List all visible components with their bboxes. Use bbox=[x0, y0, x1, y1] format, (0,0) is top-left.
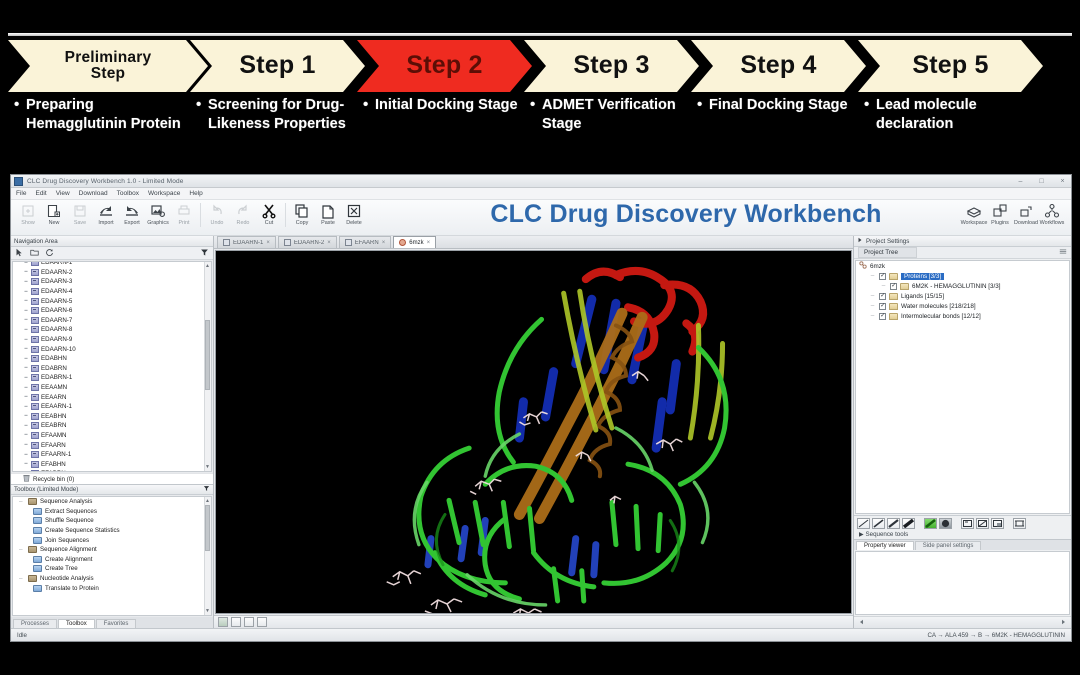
toolbox-group[interactable]: ─Sequence Analysis bbox=[13, 497, 211, 507]
status-left: Idle bbox=[17, 632, 27, 639]
tree-expander[interactable]: ━ bbox=[23, 308, 29, 314]
toolbar-button-label: Delete bbox=[346, 220, 362, 226]
project-tree-expander[interactable]: ─ bbox=[880, 283, 887, 289]
sequence-tab-icon bbox=[223, 239, 230, 246]
tree-expander[interactable]: ━ bbox=[23, 298, 29, 304]
text-view-button[interactable] bbox=[257, 617, 267, 627]
chevron-step-4[interactable]: Step 4 bbox=[691, 40, 866, 92]
project-tree-row-label: Proteins [3/3] bbox=[901, 273, 944, 280]
toolbox-group-label: Sequence Analysis bbox=[40, 498, 92, 505]
graphics-icon bbox=[150, 202, 167, 219]
toolbar-button-label: Paste bbox=[321, 220, 335, 226]
project-folder-icon bbox=[889, 293, 898, 300]
plugins-icon bbox=[992, 202, 1009, 219]
toolbar-button-group: ShowNewSaveImportExportGraphicsPrintUndo… bbox=[15, 202, 367, 227]
navigation-area-header: Navigation Area bbox=[11, 236, 213, 247]
sequence-tools-panel: ▶ Sequence tools bbox=[854, 515, 1071, 539]
sequence-file-icon bbox=[31, 317, 39, 324]
project-folder-icon bbox=[900, 283, 909, 290]
nav-tree-item[interactable]: ━EDAARN-3 bbox=[23, 277, 211, 287]
chevron-step-bullets: Screening for Drug- Likeness Properties bbox=[196, 96, 358, 172]
toolbar-button-new[interactable]: New bbox=[41, 202, 67, 226]
chevron-step-label: Step 3 bbox=[573, 53, 649, 79]
molecule-3d-viewport[interactable] bbox=[215, 250, 852, 614]
nav-tree-item[interactable]: ━EFAAMN bbox=[23, 431, 211, 441]
toolbox-item[interactable]: Create Alignment bbox=[13, 555, 211, 565]
project-tree-bar: Project Tree bbox=[854, 247, 1071, 259]
bottom-tab-processes[interactable]: Processes bbox=[13, 619, 57, 628]
nav-tree-item-label: EDABRN bbox=[41, 365, 67, 372]
export-icon bbox=[124, 202, 141, 219]
nav-tree-item[interactable]: ━EEAAMN bbox=[23, 383, 211, 393]
nav-tree-item[interactable]: ━EDABRN bbox=[23, 364, 211, 374]
nav-tree-item-label: EEABRN bbox=[41, 422, 66, 429]
sequence-file-icon bbox=[31, 422, 39, 429]
toolbox-item[interactable]: Create Sequence Statistics bbox=[13, 526, 211, 536]
molecule-view-button[interactable] bbox=[218, 617, 228, 627]
toolbar-button-export[interactable]: Export bbox=[119, 202, 145, 226]
sequence-file-icon bbox=[31, 365, 39, 372]
prop-scroll-left-icon[interactable] bbox=[858, 619, 865, 627]
recycle-bin-row[interactable]: Recycle bin (0) bbox=[11, 473, 213, 484]
menu-item-toolbox[interactable]: Toolbox bbox=[117, 190, 139, 197]
sequence-file-icon bbox=[31, 278, 39, 285]
toolbar-button-workspace[interactable]: Workspace bbox=[961, 202, 987, 226]
toolbox-title: Toolbox (Limited Mode) bbox=[14, 486, 78, 493]
undo-icon bbox=[209, 202, 226, 219]
maximize-button[interactable]: □ bbox=[1037, 177, 1046, 186]
nav-tree-item[interactable]: ━EDAARN-6 bbox=[23, 306, 211, 316]
nav-tree-item-label: EDABRN-1 bbox=[41, 374, 72, 381]
process-flow-banner: PreliminaryStepStep 1Step 2Step 3Step 4S… bbox=[0, 0, 1080, 175]
toolbox-scroll-up-arrow[interactable]: ▲ bbox=[205, 498, 210, 504]
nav-tree-item[interactable]: ━EFABRN bbox=[23, 469, 211, 472]
tree-expander[interactable]: ━ bbox=[23, 317, 29, 323]
toolbar-button-label: Cut bbox=[265, 220, 273, 226]
sequence-tools-expand-icon[interactable]: ▶ bbox=[859, 531, 864, 538]
toolbox-group-label: Sequence Alignment bbox=[40, 546, 97, 553]
project-tree-row[interactable]: ─Proteins [3/3] bbox=[856, 271, 1069, 281]
toolbox-item[interactable]: Join Sequences bbox=[13, 535, 211, 545]
project-tree-row[interactable]: ─6M2K - HEMAGGLUTININ [3/3] bbox=[856, 281, 1069, 291]
project-tree-row[interactable]: ─Water molecules [218/218] bbox=[856, 301, 1069, 311]
sequence-tools-label[interactable]: ▶ Sequence tools bbox=[857, 529, 1068, 539]
toolbar-button-workflows[interactable]: Workflows bbox=[1039, 202, 1065, 226]
nav-tree-item[interactable]: ━EDABRN-1 bbox=[23, 373, 211, 383]
nav-tree-item-label: EDAARN-2 bbox=[41, 269, 72, 276]
table-view-button[interactable] bbox=[231, 617, 241, 627]
property-tab-bar: Property viewerSide panel settings bbox=[854, 539, 1071, 550]
window-titlebar: CLC Drug Discovery Workbench 1.0 - Limit… bbox=[11, 175, 1071, 188]
toolbar-button-import[interactable]: Import bbox=[93, 202, 119, 226]
sequence-tool-grid-icon[interactable] bbox=[991, 518, 1004, 529]
sequence-file-icon bbox=[31, 298, 39, 305]
sequence-file-icon bbox=[31, 326, 39, 333]
tree-expander[interactable]: ━ bbox=[23, 289, 29, 295]
chevron-step-bullets: Final Docking Stage bbox=[697, 96, 859, 172]
sequence-tool-backbone-thin-icon[interactable] bbox=[872, 518, 885, 529]
tree-expander[interactable]: ━ bbox=[23, 452, 29, 458]
view-tab-6mzk[interactable]: 6mzk× bbox=[393, 236, 436, 248]
sequence-file-icon bbox=[31, 336, 39, 343]
tree-expander[interactable]: ━ bbox=[23, 346, 29, 352]
menu-item-edit[interactable]: Edit bbox=[35, 190, 46, 197]
toolbox-expander[interactable]: ─ bbox=[19, 576, 25, 582]
toolbar-button-label: Copy bbox=[296, 220, 309, 226]
tree-expander[interactable]: ━ bbox=[23, 279, 29, 285]
toolbox-item[interactable]: Shuffle Sequence bbox=[13, 516, 211, 526]
chevron-step-bullets: ADMET Verification Stage bbox=[530, 96, 692, 172]
sequence-tab-icon bbox=[345, 239, 352, 246]
project-settings-header: Project Settings bbox=[854, 236, 1071, 247]
view-tab-label: EDAARN-2 bbox=[294, 240, 324, 246]
toolbox-folder-icon bbox=[28, 498, 37, 505]
view-tab-edaarn-1[interactable]: EDAARN-1× bbox=[217, 236, 276, 248]
sequence-file-icon bbox=[31, 451, 39, 458]
property-tab-property-viewer[interactable]: Property viewer bbox=[856, 541, 914, 550]
chevron-step-2[interactable]: Step 2 bbox=[357, 40, 532, 92]
toolbox-filter-icon[interactable] bbox=[203, 485, 210, 494]
sequence-tool-fit-icon[interactable] bbox=[1013, 518, 1026, 529]
protein-ribbon-render bbox=[216, 251, 851, 613]
nav-tree-item[interactable]: ━EDAARN-4 bbox=[23, 287, 211, 297]
chevron-step-0[interactable]: PreliminaryStep bbox=[8, 40, 208, 92]
tree-expander[interactable]: ━ bbox=[23, 413, 29, 419]
project-root-row[interactable]: 6mzk bbox=[856, 261, 1069, 271]
toolbox-item-icon bbox=[33, 537, 42, 544]
tree-expander[interactable]: ━ bbox=[23, 375, 29, 381]
menu-item-file[interactable]: File bbox=[16, 190, 26, 197]
nav-tree-item[interactable]: ━EDAARN-8 bbox=[23, 325, 211, 335]
tree-expander[interactable]: ━ bbox=[23, 471, 29, 472]
toolbox-item[interactable]: Extract Sequences bbox=[13, 507, 211, 517]
nav-tree-item-label: EFABRN bbox=[41, 470, 66, 472]
nav-tree-item[interactable]: ━EEABHN bbox=[23, 412, 211, 422]
nav-tree-item[interactable]: ━EDAARN-9 bbox=[23, 335, 211, 345]
toolbar-button-label: Workspace bbox=[961, 220, 988, 226]
new-icon bbox=[46, 202, 63, 219]
nav-tree-item[interactable]: ━EFAARN-1 bbox=[23, 450, 211, 460]
toolbox-scrollbar[interactable]: ▲ ▼ bbox=[204, 497, 211, 615]
nav-tree-item[interactable]: ━EFABHN bbox=[23, 459, 211, 469]
split-view-button[interactable] bbox=[244, 617, 254, 627]
viewport-toolbar bbox=[214, 615, 853, 628]
view-tab-close-icon[interactable]: × bbox=[266, 240, 270, 246]
toolbox-item-label: Translate to Protein bbox=[45, 585, 99, 592]
toolbox-tree[interactable]: ─Sequence AnalysisExtract SequencesShuff… bbox=[12, 496, 212, 616]
chevron-row: PreliminaryStepStep 1Step 2Step 3Step 4S… bbox=[0, 40, 1080, 92]
sequence-tool-buttons bbox=[857, 518, 1068, 529]
toolbar-button-delete[interactable]: Delete bbox=[341, 202, 367, 226]
toolbox-item-label: Create Sequence Statistics bbox=[45, 527, 120, 534]
sequence-file-icon bbox=[31, 470, 39, 472]
sequence-file-icon bbox=[31, 355, 39, 362]
view-tab-edaarn-2[interactable]: EDAARN-2× bbox=[278, 236, 337, 248]
project-tree-checkbox[interactable] bbox=[879, 293, 886, 300]
molecule-root-icon bbox=[859, 261, 867, 271]
navigation-scrollbar[interactable]: ▲ ▼ bbox=[204, 262, 211, 471]
project-tree-row-label: Intermolecular bonds [12/12] bbox=[901, 313, 981, 320]
nav-tree-item[interactable]: ━EEAARN bbox=[23, 392, 211, 402]
copy-icon bbox=[294, 202, 311, 219]
scroll-thumb[interactable] bbox=[205, 320, 210, 390]
toolbar-button-label: Show bbox=[21, 220, 35, 226]
nav-tree-item[interactable]: ━EDAARN-1 bbox=[23, 261, 211, 268]
menu-item-help[interactable]: Help bbox=[189, 190, 202, 197]
nav-tree-item-label: EEAAMN bbox=[41, 384, 67, 391]
application-window: CLC Drug Discovery Workbench 1.0 - Limit… bbox=[10, 174, 1072, 642]
toolbar-button-redo: Redo bbox=[230, 202, 256, 226]
screenshot-root: PreliminaryStepStep 1Step 2Step 3Step 4S… bbox=[0, 0, 1080, 675]
scroll-down-arrow[interactable]: ▼ bbox=[205, 464, 210, 470]
project-tree-checkbox[interactable] bbox=[879, 303, 886, 310]
toolbar-button-show: Show bbox=[15, 202, 41, 226]
toolbox-group[interactable]: ─Sequence Alignment bbox=[13, 545, 211, 555]
sequence-tools-text: Sequence tools bbox=[866, 531, 909, 538]
toolbar-button-label: Import bbox=[98, 220, 113, 226]
molecule-tab-icon bbox=[399, 239, 406, 246]
sequence-file-icon bbox=[31, 442, 39, 449]
chevron-step-1[interactable]: Step 1 bbox=[190, 40, 365, 92]
status-bar: Idle CA → ALA 459 → B → 6M2K - HEMAGGLUT… bbox=[11, 628, 1071, 641]
tree-expander[interactable]: ━ bbox=[23, 269, 29, 275]
toolbar-button-label: Undo bbox=[211, 220, 224, 226]
project-tree-expander[interactable]: ─ bbox=[869, 303, 876, 309]
close-button[interactable]: × bbox=[1058, 177, 1067, 186]
refresh-icon[interactable] bbox=[45, 248, 54, 259]
tree-expander[interactable]: ━ bbox=[23, 423, 29, 429]
toolbox-item[interactable]: Translate to Protein bbox=[13, 583, 211, 593]
download-icon bbox=[1018, 202, 1035, 219]
chevron-step-label: PreliminaryStep bbox=[65, 50, 152, 82]
toolbox-item-label: Create Alignment bbox=[45, 556, 92, 563]
tree-expander[interactable]: ━ bbox=[23, 327, 29, 333]
bullet-item: Final Docking Stage bbox=[697, 96, 859, 115]
view-tab-close-icon[interactable]: × bbox=[427, 240, 431, 246]
nav-tree-item[interactable]: ━EEABRN bbox=[23, 421, 211, 431]
save-icon bbox=[72, 202, 89, 219]
toolbox-item-label: Shuffle Sequence bbox=[45, 517, 94, 524]
project-tree-expander[interactable]: ─ bbox=[869, 293, 876, 299]
project-settings-title: Project Settings bbox=[866, 238, 1068, 245]
project-tree-checkbox[interactable] bbox=[879, 313, 886, 320]
menu-item-view[interactable]: View bbox=[56, 190, 70, 197]
chevron-step-bullets: Preparing Hemagglutinin Protein bbox=[14, 96, 182, 172]
toolbox-scroll-down-arrow[interactable]: ▼ bbox=[205, 608, 210, 614]
nav-tree-item[interactable]: ━EEAARN-1 bbox=[23, 402, 211, 412]
project-tree-expander[interactable]: ─ bbox=[869, 313, 876, 319]
project-tree[interactable]: 6mzk─Proteins [3/3]─6M2K - HEMAGGLUTININ… bbox=[855, 260, 1070, 514]
chevron-step-label: Step 2 bbox=[406, 53, 482, 79]
toolbar-button-print: Print bbox=[171, 202, 197, 226]
tree-expander[interactable]: ━ bbox=[23, 432, 29, 438]
project-folder-icon bbox=[889, 273, 898, 280]
tree-expander[interactable]: ━ bbox=[23, 365, 29, 371]
nav-tree-item-label: EEAARN bbox=[41, 394, 66, 401]
tree-expander[interactable]: ━ bbox=[23, 385, 29, 391]
bullet-item: Preparing Hemagglutinin Protein bbox=[14, 96, 182, 135]
toolbox-item-icon bbox=[33, 585, 42, 592]
tree-expander[interactable]: ━ bbox=[23, 356, 29, 362]
delete-icon bbox=[346, 202, 363, 219]
toolbox-item-icon bbox=[33, 565, 42, 572]
window-body: Navigation Area bbox=[11, 236, 1071, 628]
sequence-file-icon bbox=[31, 288, 39, 295]
sequence-tool-label-icon[interactable] bbox=[961, 518, 974, 529]
toolbox-expander[interactable]: ─ bbox=[19, 499, 25, 505]
tree-expander[interactable]: ━ bbox=[23, 394, 29, 400]
right-panel: Project Settings Project Tree 6mzk─Prote… bbox=[853, 236, 1071, 628]
chevron-step-3[interactable]: Step 3 bbox=[524, 40, 699, 92]
pointer-icon[interactable] bbox=[15, 248, 24, 259]
window-controls: – □ × bbox=[1016, 177, 1067, 186]
toolbar-button-label: Download bbox=[1014, 220, 1038, 226]
chevron-step-bullets: Initial Docking Stage bbox=[363, 96, 525, 172]
sequence-file-icon bbox=[31, 307, 39, 314]
workflows-icon bbox=[1044, 202, 1061, 219]
toolbox-header: Toolbox (Limited Mode) bbox=[11, 484, 213, 495]
project-tree-checkbox[interactable] bbox=[890, 283, 897, 290]
view-tab-label: EDAARN-1 bbox=[233, 240, 263, 246]
toolbar-button-label: Plugins bbox=[991, 220, 1009, 226]
nav-tree-item[interactable]: ━EDAARN-5 bbox=[23, 296, 211, 306]
toolbox-item[interactable]: Create Tree bbox=[13, 564, 211, 574]
toolbox-item-icon bbox=[33, 527, 42, 534]
nav-tree-item-label: EFABHN bbox=[41, 461, 66, 468]
chevron-step-5[interactable]: Step 5 bbox=[858, 40, 1043, 92]
nav-tree-item-label: EDABHN bbox=[41, 355, 67, 362]
project-tree-row[interactable]: ─Ligands [15/15] bbox=[856, 291, 1069, 301]
sequence-file-icon bbox=[31, 413, 39, 420]
nav-tree-item[interactable]: ━EDAARN-7 bbox=[23, 316, 211, 326]
nav-tree-item[interactable]: ━EDABHN bbox=[23, 354, 211, 364]
toolbox-expander[interactable]: ─ bbox=[19, 547, 25, 553]
project-tree-row-label: 6M2K - HEMAGGLUTININ [3/3] bbox=[912, 283, 1001, 290]
bullet-item: Lead molecule declaration bbox=[864, 96, 1039, 135]
sequence-file-icon bbox=[31, 261, 39, 266]
toolbox-item-label: Join Sequences bbox=[45, 537, 89, 544]
menu-bar: FileEditViewDownloadToolboxWorkspaceHelp bbox=[11, 188, 1071, 200]
sequence-tool-backbone-ribbon-icon[interactable] bbox=[887, 518, 900, 529]
property-tab-side-panel-settings[interactable]: Side panel settings bbox=[915, 541, 982, 550]
nav-tree-item-label: EDAARN-8 bbox=[41, 326, 72, 333]
project-folder-icon bbox=[889, 313, 898, 320]
main-toolbar: ShowNewSaveImportExportGraphicsPrintUndo… bbox=[11, 200, 1071, 236]
nav-tree-item[interactable]: ━EDAARN-10 bbox=[23, 344, 211, 354]
tree-expander[interactable]: ━ bbox=[23, 442, 29, 448]
toolbar-button-copy[interactable]: Copy bbox=[289, 202, 315, 226]
scissors-icon bbox=[261, 202, 278, 219]
sequence-tool-ruler-icon[interactable] bbox=[976, 518, 989, 529]
toolbar-button-cut[interactable]: Cut bbox=[256, 202, 282, 226]
toolbar-button-undo: Undo bbox=[204, 202, 230, 226]
nav-tree-item-label: EDAARN-1 bbox=[41, 261, 72, 266]
sequence-file-icon bbox=[31, 394, 39, 401]
project-tree-menu-icon[interactable] bbox=[1059, 249, 1067, 256]
window-title: CLC Drug Discovery Workbench 1.0 - Limit… bbox=[27, 178, 184, 185]
chevron-step-bullets: Lead molecule declaration bbox=[864, 96, 1039, 172]
nav-tree-item-label: EEAARN-1 bbox=[41, 403, 72, 410]
toolbar-button-label: Graphics bbox=[147, 220, 169, 226]
nav-tree-item[interactable]: ━EFAARN bbox=[23, 440, 211, 450]
sequence-tool-surface-dark-icon[interactable] bbox=[939, 518, 952, 529]
nav-tree-item-label: EDAARN-10 bbox=[41, 346, 76, 353]
toolbox-folder-icon bbox=[28, 546, 37, 553]
tree-expander[interactable]: ━ bbox=[23, 337, 29, 343]
scroll-up-arrow[interactable]: ▲ bbox=[205, 263, 210, 269]
expand-arrow-icon[interactable] bbox=[857, 237, 863, 245]
banner-top-rule bbox=[8, 33, 1072, 36]
property-viewer[interactable] bbox=[855, 551, 1070, 615]
sequence-tab-icon bbox=[284, 239, 291, 246]
toolbox-folder-icon bbox=[28, 575, 37, 582]
tree-expander[interactable]: ━ bbox=[23, 261, 29, 266]
toolbar-button-save: Save bbox=[67, 202, 93, 226]
nav-tree-item[interactable]: ━EDAARN-2 bbox=[23, 268, 211, 278]
view-tab-close-icon[interactable]: × bbox=[327, 240, 331, 246]
toolbox-scroll-thumb[interactable] bbox=[205, 505, 210, 551]
view-tab-efaarn[interactable]: EFAARN× bbox=[339, 236, 392, 248]
toolbar-separator bbox=[200, 203, 201, 227]
view-tab-label: EFAARN bbox=[355, 240, 379, 246]
menu-item-workspace[interactable]: Workspace bbox=[148, 190, 180, 197]
navigation-tree[interactable]: ━EDAARN-1━EDAARN-2━EDAARN-3━EDAARN-4━EDA… bbox=[12, 261, 212, 472]
property-viewer-footer bbox=[854, 616, 1071, 628]
toolbar-button-label: Redo bbox=[237, 220, 250, 226]
bottom-tab-toolbox[interactable]: Toolbox bbox=[58, 619, 95, 628]
toolbar-separator bbox=[285, 203, 286, 227]
bottom-tab-favorites[interactable]: Favorites bbox=[96, 619, 137, 628]
prop-scroll-right-icon[interactable] bbox=[1060, 619, 1067, 627]
project-tree-row-label: Water molecules [218/218] bbox=[901, 303, 976, 310]
nav-tree-item-label: EDAARN-7 bbox=[41, 317, 72, 324]
menu-item-download[interactable]: Download bbox=[79, 190, 108, 197]
tree-expander[interactable]: ━ bbox=[23, 461, 29, 467]
import-icon bbox=[98, 202, 115, 219]
toolbox-group[interactable]: ─Nucleotide Analysis bbox=[13, 574, 211, 584]
sequence-tool-surface-green-icon[interactable] bbox=[924, 518, 937, 529]
project-tree-label: Project Tree bbox=[858, 247, 917, 258]
workspace-icon bbox=[966, 202, 983, 219]
bullet-item: ADMET Verification Stage bbox=[530, 96, 692, 135]
tree-expander[interactable]: ━ bbox=[23, 404, 29, 410]
project-tree-row[interactable]: ─Intermolecular bonds [12/12] bbox=[856, 311, 1069, 321]
project-folder-icon bbox=[889, 303, 898, 310]
toolbox-item-label: Create Tree bbox=[45, 565, 78, 572]
toolbar-button-label: Save bbox=[74, 220, 86, 226]
view-tab-close-icon[interactable]: × bbox=[382, 240, 386, 246]
toolbar-button-paste[interactable]: Paste bbox=[315, 202, 341, 226]
filter-icon[interactable] bbox=[200, 248, 209, 259]
project-tree-row-label: Ligands [15/15] bbox=[901, 293, 944, 300]
nav-tree-item-label: EFAARN-1 bbox=[41, 451, 71, 458]
project-tree-expander[interactable]: ─ bbox=[869, 273, 876, 279]
toolbar-button-graphics[interactable]: Graphics bbox=[145, 202, 171, 226]
toolbar-button-label: Print bbox=[178, 220, 189, 226]
open-folder-icon[interactable] bbox=[30, 248, 39, 259]
toolbar-button-download[interactable]: Download bbox=[1013, 202, 1039, 226]
sequence-tool-backbone-solid-icon[interactable] bbox=[902, 518, 915, 529]
minimize-button[interactable]: – bbox=[1016, 177, 1025, 186]
left-bottom-tabs: ProcessesToolboxFavorites bbox=[11, 617, 213, 628]
sequence-tool-backbone-line-icon[interactable] bbox=[857, 518, 870, 529]
sequence-file-icon bbox=[31, 432, 39, 439]
nav-tree-item-label: EDAARN-3 bbox=[41, 278, 72, 285]
navigation-area-title: Navigation Area bbox=[14, 238, 58, 245]
toolbar-button-plugins[interactable]: Plugins bbox=[987, 202, 1013, 226]
project-tree-checkbox[interactable] bbox=[879, 273, 886, 280]
redo-icon bbox=[235, 202, 252, 219]
